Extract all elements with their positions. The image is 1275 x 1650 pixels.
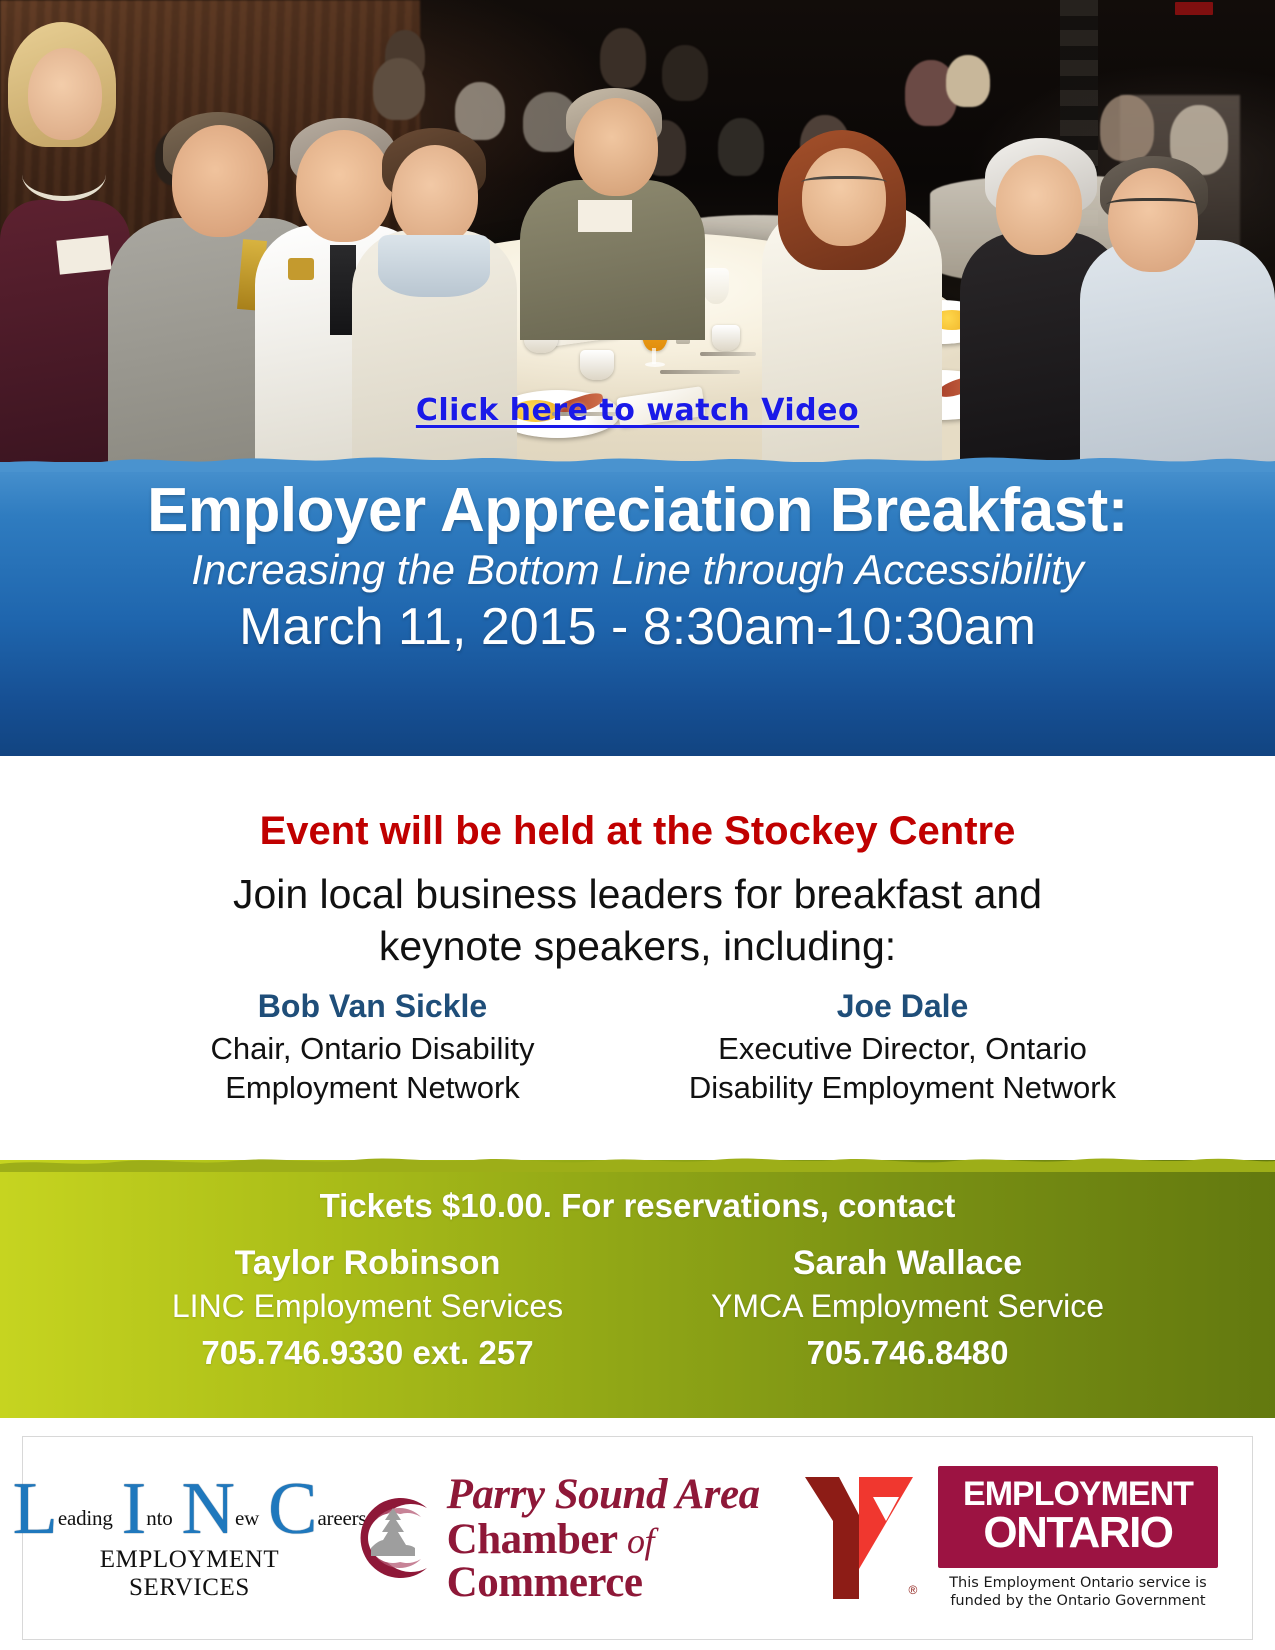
photo-person-face bbox=[1108, 168, 1198, 272]
contact-name: Sarah Wallace bbox=[678, 1242, 1138, 1285]
ymca-logo: ® bbox=[799, 1473, 919, 1603]
linc-word-leading: eading bbox=[58, 1506, 113, 1531]
photo-background-person bbox=[946, 55, 990, 107]
photo-person-face bbox=[996, 155, 1082, 255]
photo-person-face bbox=[296, 130, 392, 242]
employment-ontario-logo: EMPLOYMENT ONTARIO This Employment Ontar… bbox=[938, 1466, 1218, 1611]
photo-person-face bbox=[802, 148, 886, 246]
photo-coffee-cup bbox=[580, 350, 614, 380]
employment-ontario-badge: EMPLOYMENT ONTARIO bbox=[938, 1466, 1218, 1568]
contact-card: Taylor Robinson LINC Employment Services… bbox=[138, 1242, 598, 1375]
torn-edge-blue-bottom bbox=[0, 756, 1275, 778]
speaker-name: Joe Dale bbox=[668, 987, 1138, 1025]
event-title: Employer Appreciation Breakfast: bbox=[0, 478, 1275, 543]
reservations-section: Tickets $10.00. For reservations, contac… bbox=[0, 1160, 1275, 1425]
photo-person-face bbox=[392, 145, 478, 245]
linc-word-into: nto bbox=[146, 1506, 172, 1531]
linc-logo: L eading I nto N ew C areers EMPLOYMENT … bbox=[57, 1474, 322, 1602]
photo-eyeglasses bbox=[801, 176, 887, 192]
contact-name: Taylor Robinson bbox=[138, 1242, 598, 1285]
speaker-role-line: Executive Director, Ontario bbox=[668, 1029, 1138, 1068]
speaker-card: Bob Van Sickle Chair, Ontario Disability… bbox=[138, 987, 608, 1107]
contact-phone[interactable]: 705.746.8480 bbox=[678, 1332, 1138, 1375]
speaker-card: Joe Dale Executive Director, Ontario Dis… bbox=[668, 987, 1138, 1107]
contacts-list: Taylor Robinson LINC Employment Services… bbox=[0, 1242, 1275, 1375]
event-banner: Employer Appreciation Breakfast: Increas… bbox=[0, 462, 1275, 762]
intro-line-1: Join local business leaders for breakfas… bbox=[0, 868, 1275, 920]
contact-phone[interactable]: 705.746.9330 ext. 257 bbox=[138, 1332, 598, 1375]
linc-word-new: ew bbox=[235, 1506, 259, 1531]
chamber-name-chamber: Chamber bbox=[447, 1516, 627, 1563]
event-photo: Click here to watch Video bbox=[0, 0, 1275, 470]
funding-note-line1: This Employment Ontario service is bbox=[938, 1575, 1218, 1593]
photo-person-body bbox=[1080, 240, 1275, 470]
photo-background-person bbox=[662, 45, 708, 101]
photo-cutlery bbox=[700, 352, 756, 356]
event-details-section: Event will be held at the Stockey Centre… bbox=[0, 790, 1275, 1170]
employment-ontario-line2: ONTARIO bbox=[948, 1511, 1208, 1554]
torn-edge-green-bottom bbox=[0, 1418, 1275, 1440]
photo-eyeglasses bbox=[1106, 198, 1198, 215]
photo-person-face bbox=[574, 98, 658, 196]
photo-background-person bbox=[1100, 95, 1154, 161]
speaker-role-line: Disability Employment Network bbox=[668, 1068, 1138, 1107]
linc-letter-i: I bbox=[122, 1474, 147, 1544]
intro-line-2: keynote speakers, including: bbox=[0, 920, 1275, 972]
photo-name-badge bbox=[56, 235, 111, 274]
photo-background-person bbox=[455, 82, 505, 140]
photo-cutlery bbox=[660, 370, 740, 374]
speaker-role-line: Chair, Ontario Disability bbox=[138, 1029, 608, 1068]
chamber-name-of: of bbox=[627, 1521, 654, 1561]
chamber-mark-icon bbox=[341, 1490, 437, 1586]
speakers-list: Bob Van Sickle Chair, Ontario Disability… bbox=[0, 987, 1275, 1107]
linc-letter-l: L bbox=[13, 1474, 58, 1544]
contact-organization: YMCA Employment Service bbox=[678, 1286, 1138, 1328]
watch-video-link[interactable]: Click here to watch Video bbox=[0, 393, 1275, 428]
venue-line: Event will be held at the Stockey Centre bbox=[0, 808, 1275, 854]
poster: Click here to watch Video Employer Appre… bbox=[0, 0, 1275, 1650]
photo-glass-foot bbox=[645, 362, 665, 367]
photo-background-person bbox=[600, 28, 646, 88]
ymca-registered-mark: ® bbox=[908, 1583, 917, 1597]
photo-person-necklace bbox=[22, 148, 106, 201]
photo-background-person bbox=[718, 118, 764, 176]
chamber-of-commerce-logo: Parry Sound Area Chamber of Commerce bbox=[341, 1473, 781, 1604]
employment-ontario-line1: EMPLOYMENT bbox=[948, 1478, 1208, 1511]
event-datetime: March 11, 2015 - 8:30am-10:30am bbox=[0, 599, 1275, 656]
photo-exit-sign bbox=[1175, 2, 1213, 15]
photo-person-face bbox=[172, 125, 268, 237]
torn-edge-green-top bbox=[0, 1150, 1275, 1172]
funding-note-line2: funded by the Ontario Government bbox=[938, 1593, 1218, 1611]
sponsor-logos-footer: L eading I nto N ew C areers EMPLOYMENT … bbox=[0, 1424, 1275, 1650]
photo-water-glass bbox=[703, 268, 729, 304]
linc-letter-c: C bbox=[268, 1474, 317, 1544]
photo-scarf bbox=[378, 235, 490, 297]
linc-letter-n: N bbox=[182, 1474, 235, 1544]
torn-edge-blue-top bbox=[0, 450, 1275, 472]
chamber-name-line1: Parry Sound Area bbox=[447, 1473, 781, 1516]
photo-person-face bbox=[28, 48, 102, 140]
contact-card: Sarah Wallace YMCA Employment Service 70… bbox=[678, 1242, 1138, 1375]
photo-background-person bbox=[373, 58, 425, 120]
photo-coffee-cup bbox=[712, 325, 740, 351]
chamber-name-commerce: Commerce bbox=[447, 1559, 643, 1606]
photo-epaulet bbox=[288, 258, 314, 280]
contact-organization: LINC Employment Services bbox=[138, 1286, 598, 1328]
photo-name-badge bbox=[578, 200, 632, 232]
event-subtitle: Increasing the Bottom Line through Acces… bbox=[0, 547, 1275, 593]
linc-tagline: EMPLOYMENT SERVICES bbox=[57, 1546, 322, 1602]
speaker-name: Bob Van Sickle bbox=[138, 987, 608, 1025]
speaker-role-line: Employment Network bbox=[138, 1068, 608, 1107]
